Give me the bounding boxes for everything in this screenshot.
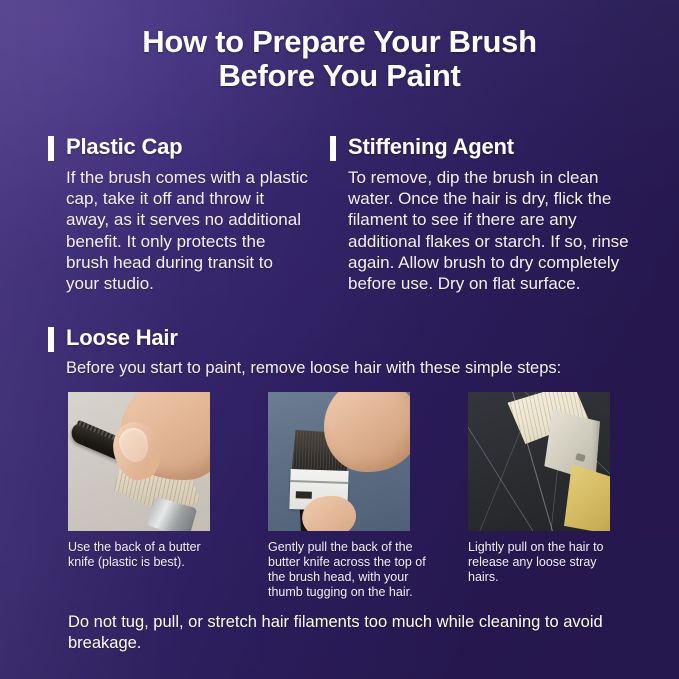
section-loose-hair: Loose Hair Before you start to paint, re… [48,325,633,379]
page-title-line-1: How to Prepare Your Brush [0,25,679,59]
section-plastic-cap-body: If the brush comes with a plastic cap, t… [48,167,310,294]
page-title: How to Prepare Your Brush Before You Pai… [0,25,679,93]
section-stiffening-agent-header: Stiffening Agent [330,134,630,161]
photo-caption-2: Gently pull the back of the butter knife… [268,540,433,600]
accent-bar-icon [48,136,54,161]
accent-bar-icon [330,136,336,161]
section-stiffening-agent-body: To remove, dip the brush in clean water.… [330,167,630,294]
section-stiffening-agent: Stiffening Agent To remove, dip the brus… [330,134,630,294]
accent-bar-icon [48,327,54,352]
photo-pull-knife-across-brush [268,392,410,531]
photo-stray-hairs-on-surface [468,392,610,531]
section-plastic-cap-title: Plastic Cap [66,134,182,160]
caption-row: Use the back of a butter knife (plastic … [68,540,628,604]
photo-caption-3: Lightly pull on the hair to release any … [468,540,618,585]
photo-caption-1: Use the back of a butter knife (plastic … [68,540,228,570]
section-loose-hair-title: Loose Hair [66,325,178,351]
photo-butter-knife-brush [68,392,210,531]
hand-shape [324,392,410,472]
photo-row [68,392,610,531]
section-plastic-cap: Plastic Cap If the brush comes with a pl… [48,134,310,294]
page-title-line-2: Before You Paint [0,59,679,93]
footer-note: Do not tug, pull, or stretch hair filame… [68,612,624,654]
section-loose-hair-body: Before you start to paint, remove loose … [48,358,633,379]
section-loose-hair-header: Loose Hair [48,325,633,352]
section-plastic-cap-header: Plastic Cap [48,134,310,161]
infographic-poster: How to Prepare Your Brush Before You Pai… [0,0,679,679]
section-stiffening-agent-title: Stiffening Agent [348,134,514,160]
